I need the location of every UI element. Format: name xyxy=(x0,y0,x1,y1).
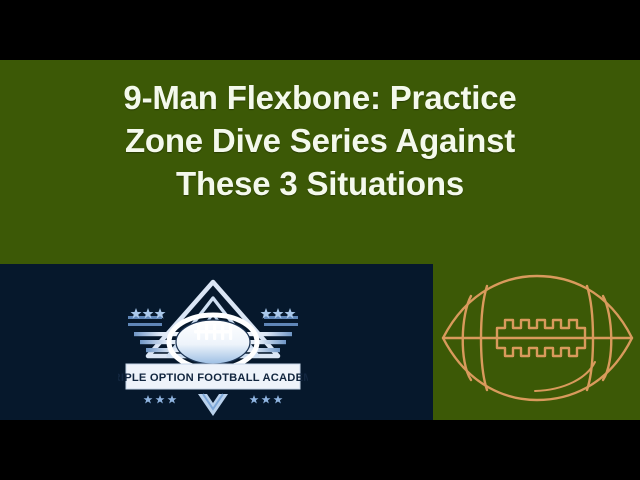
logo-football-icon xyxy=(169,315,257,369)
lace-top-row xyxy=(497,320,585,338)
video-thumbnail: 9-Man Flexbone: Practice Zone Dive Serie… xyxy=(0,0,640,480)
logo-banner-text: TRIPLE OPTION FOOTBALL ACADEMY xyxy=(118,372,308,384)
logo-panel: TRIPLE OPTION FOOTBALL ACADEMY xyxy=(0,264,433,421)
title-line-3: These 3 Situations xyxy=(0,162,640,205)
bottom-chevron-icon xyxy=(198,394,228,416)
title-line-1: 9-Man Flexbone: Practice xyxy=(0,76,640,119)
logo-banner: TRIPLE OPTION FOOTBALL ACADEMY xyxy=(118,364,308,389)
title-line-2: Zone Dive Series Against xyxy=(0,119,640,162)
lace-bottom-row xyxy=(497,338,585,356)
page-title: 9-Man Flexbone: Practice Zone Dive Serie… xyxy=(0,76,640,205)
letterbox-top xyxy=(0,0,640,60)
star-row-bottom-left xyxy=(144,395,177,404)
star-row-bottom-right xyxy=(250,395,283,404)
triple-option-football-academy-logo: TRIPLE OPTION FOOTBALL ACADEMY xyxy=(118,270,308,418)
letterbox-bottom xyxy=(0,420,640,480)
football-line-art xyxy=(435,266,640,411)
